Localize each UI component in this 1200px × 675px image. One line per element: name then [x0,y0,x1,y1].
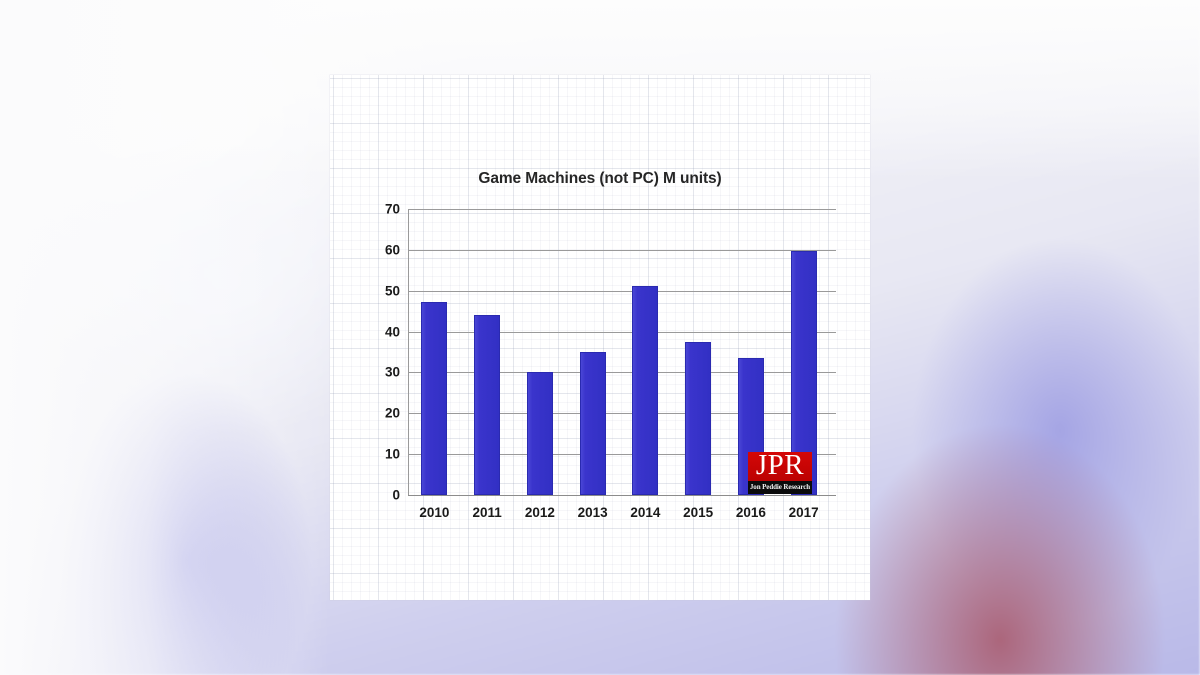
x-axis-tick-label: 2017 [772,505,836,520]
bar-2010[interactable] [421,302,447,495]
bar-2011[interactable] [474,315,500,495]
gridline-30 [408,372,836,373]
y-axis-tick-label: 40 [356,324,400,339]
y-axis-line [408,209,409,496]
y-axis-tick-label: 10 [356,447,400,462]
bar-2014[interactable] [632,286,658,495]
gridline-70 [408,209,836,210]
jpr-watermark-logo: JPR Jon Peddie Research [748,452,812,496]
bar-2013[interactable] [580,352,606,495]
bar-2015[interactable] [685,342,711,495]
chart-card: Game Machines (not PC) M units) 70 60 50… [330,75,870,600]
gridline-40 [408,332,836,333]
y-axis-tick-label: 20 [356,406,400,421]
background-left-fade [0,0,330,675]
jpr-logo-wordmark: JPR [748,449,812,482]
y-axis-tick-label: 30 [356,365,400,380]
chart-title: Game Machines (not PC) M units) [330,170,870,188]
gridline-60 [408,250,836,251]
gridline-20 [408,413,836,414]
y-axis-tick-label: 50 [356,283,400,298]
y-axis-tick-label: 0 [356,488,400,503]
y-axis-tick-label: 60 [356,242,400,257]
y-axis-tick-label: 70 [356,202,400,217]
gridline-50 [408,291,836,292]
bar-2012[interactable] [527,372,553,495]
jpr-logo-subtitle: Jon Peddie Research [748,481,812,494]
